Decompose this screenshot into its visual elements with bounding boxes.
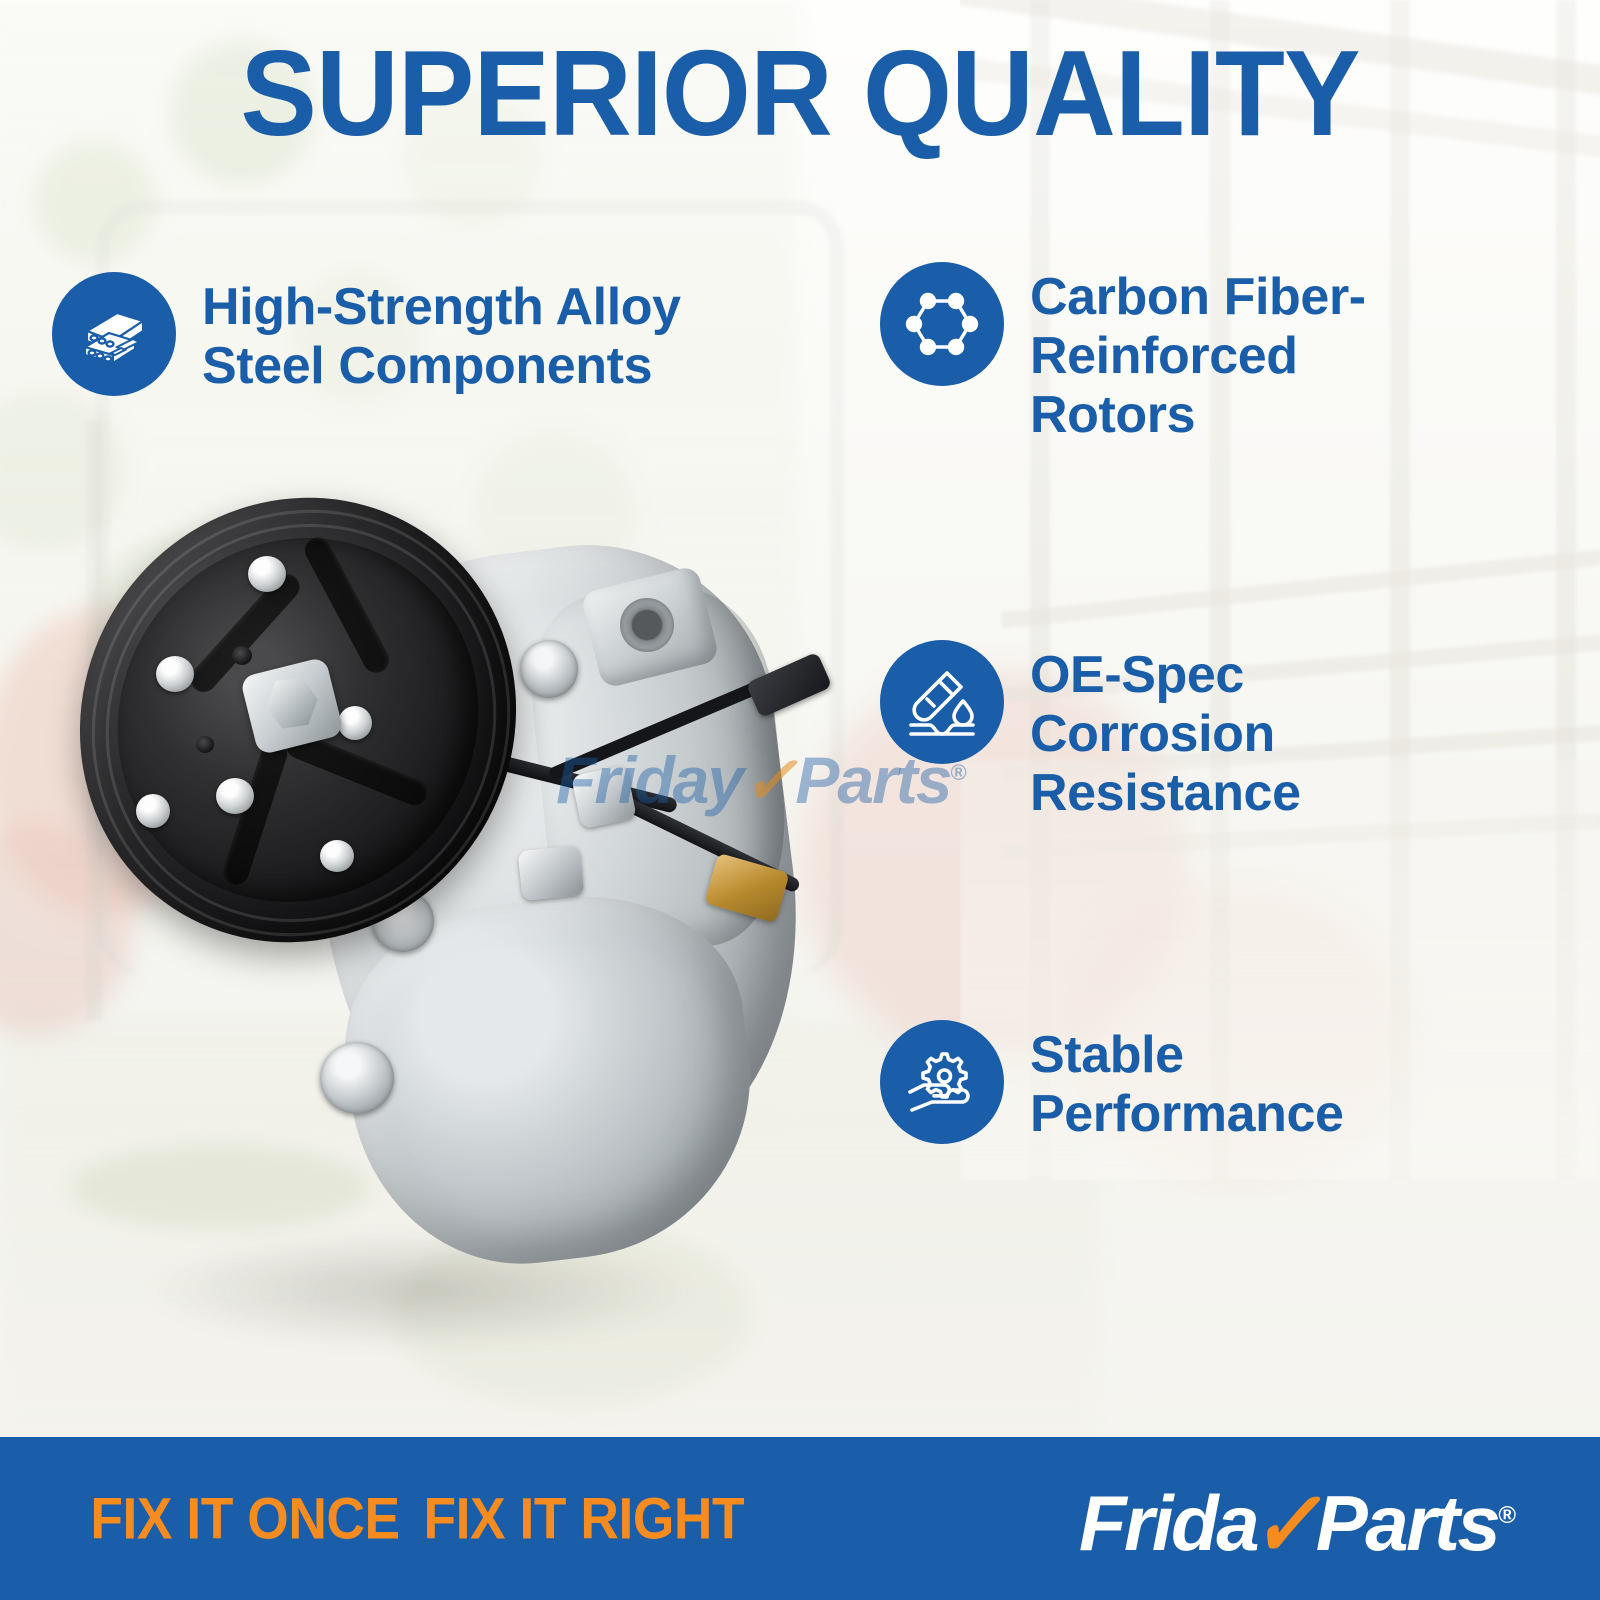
clutch-bolt (156, 656, 194, 692)
clutch-dimple (196, 736, 214, 753)
feature-item-alloy-steel: High-Strength Alloy Steel Components (52, 272, 832, 396)
feature-label-line1: Stable (1030, 1026, 1344, 1085)
check-icon: ✓ (1251, 1479, 1318, 1571)
feature-label: Carbon Fiber- Reinforced Rotors (1030, 262, 1366, 444)
clutch-bolt (136, 794, 170, 828)
feature-item-carbon-fiber-rotors: Carbon Fiber- Reinforced Rotors (880, 262, 1540, 444)
gear-in-hand-icon (880, 1020, 1004, 1144)
feature-label: High-Strength Alloy Steel Components (202, 272, 681, 396)
feature-label-line3: Rotors (1030, 386, 1366, 445)
fridayparts-logo: Frida✓Parts® (1079, 1473, 1516, 1565)
clutch-bolt (216, 778, 254, 814)
feature-label-line2: Steel Components (202, 337, 681, 396)
feature-item-stable-performance: Stable Performance (880, 1020, 1560, 1144)
hexagon-molecule-icon (880, 262, 1004, 386)
feature-label-line2: Reinforced (1030, 327, 1366, 386)
feature-label-line1: OE-Spec (1030, 646, 1301, 705)
tagline-part2: FIX IT RIGHT (424, 1486, 745, 1551)
threaded-hole (620, 598, 674, 652)
clutch-bolt (248, 556, 286, 592)
feature-label-line2: Corrosion (1030, 705, 1301, 764)
feature-label-line2: Performance (1030, 1085, 1344, 1144)
product-marketing-image: SUPERIOR QUALITY (0, 0, 1600, 1600)
bolt-head (320, 1042, 394, 1114)
watermark-check-icon: ✓ (742, 743, 795, 817)
watermark-text: Friday (556, 743, 742, 817)
clutch-dimple (232, 646, 252, 665)
bolt-head (520, 640, 578, 698)
product-image-ac-compressor: Friday✓Parts® (20, 470, 900, 1370)
clutch-bolt (320, 840, 354, 872)
feature-label: OE-Spec Corrosion Resistance (1030, 640, 1301, 822)
feature-label-line1: Carbon Fiber- (1030, 268, 1366, 327)
steel-beams-icon (52, 272, 176, 396)
page-title: SUPERIOR QUALITY (48, 32, 1552, 154)
logo-second-word: Parts (1316, 1479, 1499, 1567)
feature-label: Stable Performance (1030, 1020, 1344, 1144)
feature-label-line3: Resistance (1030, 764, 1301, 823)
registered-trademark-icon: ® (1498, 1502, 1516, 1529)
hose-clamp (518, 845, 585, 901)
feature-label-line1: High-Strength Alloy (202, 278, 681, 337)
tagline-part1: FIX IT ONCE (90, 1486, 399, 1551)
bottom-banner: FIX IT ONCEFIX IT RIGHT Frida✓Parts® (0, 1437, 1600, 1600)
test-tube-droplet-icon (880, 640, 1004, 764)
tagline: FIX IT ONCEFIX IT RIGHT (90, 1485, 744, 1552)
feature-item-corrosion-resistance: OE-Spec Corrosion Resistance (880, 640, 1540, 822)
clutch-bolt (338, 706, 372, 740)
logo-first-word: Frida (1079, 1479, 1257, 1567)
